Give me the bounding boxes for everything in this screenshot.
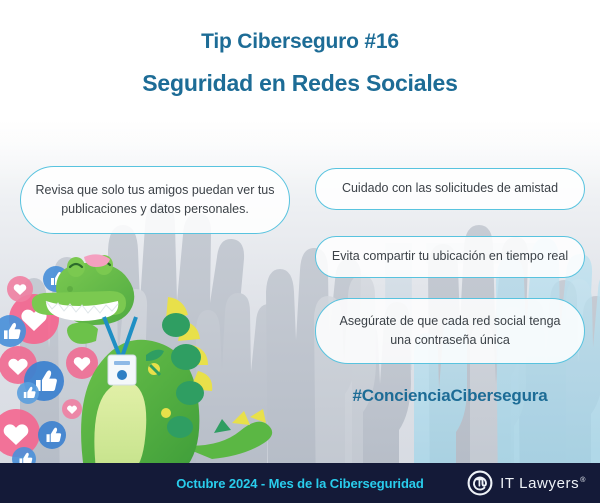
tip-bubble-left: Revisa que solo tus amigos puedan ver tu… [20,166,290,234]
page-title: Seguridad en Redes Sociales [0,71,600,96]
tip-number-title: Tip Ciberseguro #16 [0,30,600,53]
tip-bubble-right-2: Evita compartir tu ubicación en tiempo r… [315,236,585,278]
tip-bubble-right-1: Cuidado con las solicitudes de amistad [315,168,585,210]
campaign-hashtag: #ConcienciaCibersegura [315,386,585,406]
at-sign-circle-icon [467,470,493,496]
poster: IT [0,0,600,503]
brand-logo: IT Lawyers® [467,470,586,496]
brand-name-text: IT Lawyers [500,475,579,492]
brand-name: IT Lawyers® [500,475,586,492]
footer-bar: Octubre 2024 - Mes de la Ciberseguridad … [0,463,600,503]
title-block: Tip Ciberseguro #16 Seguridad en Redes S… [0,30,600,96]
registered-mark: ® [580,477,586,484]
mascot-illustration [0,245,300,470]
tip-bubble-right-3: Asegúrate de que cada red social tenga u… [315,298,585,364]
